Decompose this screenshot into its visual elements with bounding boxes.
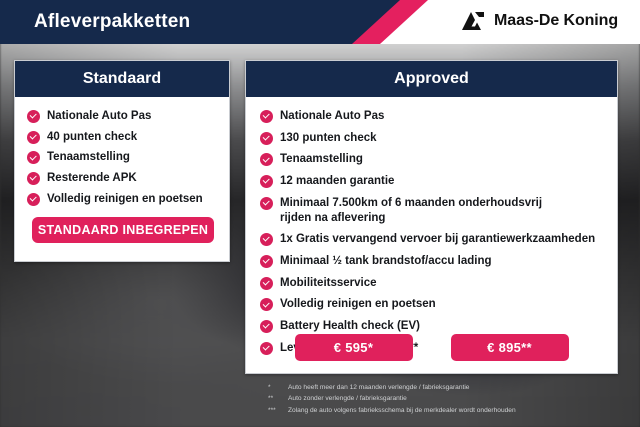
footnote-marker: *** bbox=[268, 405, 288, 416]
feature-label: 12 maanden garantie bbox=[280, 174, 394, 189]
list-item: Battery Health check (EV) bbox=[246, 319, 617, 334]
feature-label: 40 punten check bbox=[47, 130, 137, 145]
standard-package-card: Standaard Nationale Auto Pas 40 punten c… bbox=[14, 60, 230, 262]
check-circle-icon bbox=[260, 197, 273, 210]
list-item: 12 maanden garantie bbox=[246, 174, 617, 189]
standaard-inbegrepen-button[interactable]: STANDAARD INBEGREPEN bbox=[32, 217, 214, 243]
page-header: Afleverpakketten Maas-De Koning bbox=[0, 0, 640, 44]
check-circle-icon bbox=[260, 233, 273, 246]
feature-label: Volledig reinigen en poetsen bbox=[47, 192, 203, 207]
list-item: Nationale Auto Pas bbox=[246, 109, 617, 124]
maas-de-koning-m-mark-icon bbox=[460, 10, 486, 32]
approved-package-card: Approved Nationale Auto Pas 130 punten c… bbox=[245, 60, 618, 374]
check-circle-icon bbox=[260, 298, 273, 311]
price-button-595[interactable]: € 595* bbox=[295, 334, 413, 361]
check-circle-icon bbox=[260, 132, 273, 145]
footnote-text: Zolang de auto volgens fabrieksschema bi… bbox=[288, 405, 516, 416]
check-circle-icon bbox=[27, 172, 40, 185]
list-item: 130 punten check bbox=[246, 131, 617, 146]
feature-label: Nationale Auto Pas bbox=[47, 109, 151, 124]
list-item: Volledig reinigen en poetsen bbox=[246, 297, 617, 312]
page-title: Afleverpakketten bbox=[34, 11, 190, 33]
feature-label: Battery Health check (EV) bbox=[280, 319, 420, 334]
footnote-marker: ** bbox=[268, 393, 288, 404]
check-circle-icon bbox=[27, 151, 40, 164]
list-item: 40 punten check bbox=[15, 130, 229, 145]
list-item: 1x Gratis vervangend vervoer bij garanti… bbox=[246, 232, 617, 247]
feature-label: Tenaamstelling bbox=[47, 150, 130, 165]
list-item: Resterende APK bbox=[15, 171, 229, 186]
approved-card-title: Approved bbox=[246, 61, 617, 97]
feature-label: Volledig reinigen en poetsen bbox=[280, 297, 436, 312]
feature-label-continuation: rijden na aflevering bbox=[280, 211, 542, 226]
list-item: Minimaal 7.500km of 6 maanden onderhouds… bbox=[246, 196, 617, 225]
check-circle-icon bbox=[27, 131, 40, 144]
approved-feature-list: Nationale Auto Pas 130 punten check Tena… bbox=[246, 109, 617, 356]
check-circle-icon bbox=[260, 255, 273, 268]
feature-label: Resterende APK bbox=[47, 171, 137, 186]
check-circle-icon bbox=[260, 277, 273, 290]
approved-card-body: Nationale Auto Pas 130 punten check Tena… bbox=[246, 97, 617, 356]
feature-label: Mobiliteitsservice bbox=[280, 276, 377, 291]
standard-card-title: Standaard bbox=[15, 61, 229, 97]
feature-label: Tenaamstelling bbox=[280, 152, 363, 167]
list-item: Tenaamstelling bbox=[15, 150, 229, 165]
standard-feature-list: Nationale Auto Pas 40 punten check Tenaa… bbox=[15, 109, 229, 207]
list-item: Mobiliteitsservice bbox=[246, 276, 617, 291]
feature-label: 130 punten check bbox=[280, 131, 377, 146]
brand-name: Maas-De Koning bbox=[494, 12, 618, 30]
feature-label-wrapped: Minimaal 7.500km of 6 maanden onderhouds… bbox=[280, 196, 542, 225]
footnotes: * Auto heeft meer dan 12 maanden verleng… bbox=[268, 382, 516, 416]
feature-label: Minimaal ½ tank brandstof/accu lading bbox=[280, 254, 492, 269]
check-circle-icon bbox=[260, 175, 273, 188]
check-circle-icon bbox=[260, 110, 273, 123]
standard-card-body: Nationale Auto Pas 40 punten check Tenaa… bbox=[15, 97, 229, 207]
check-circle-icon bbox=[27, 110, 40, 123]
feature-label: Nationale Auto Pas bbox=[280, 109, 384, 124]
check-circle-icon bbox=[260, 153, 273, 166]
price-button-895[interactable]: € 895** bbox=[451, 334, 569, 361]
check-circle-icon bbox=[260, 320, 273, 333]
footnote-text: Auto heeft meer dan 12 maanden verlengde… bbox=[288, 382, 469, 393]
check-circle-icon bbox=[27, 193, 40, 206]
list-item: Minimaal ½ tank brandstof/accu lading bbox=[246, 254, 617, 269]
feature-label: Minimaal 7.500km of 6 maanden onderhouds… bbox=[280, 197, 542, 209]
list-item: Volledig reinigen en poetsen bbox=[15, 192, 229, 207]
footnote-3: *** Zolang de auto volgens fabrieksschem… bbox=[268, 405, 516, 416]
footnote-1: * Auto heeft meer dan 12 maanden verleng… bbox=[268, 382, 516, 393]
brand-lockup: Maas-De Koning bbox=[460, 10, 618, 32]
list-item: Tenaamstelling bbox=[246, 152, 617, 167]
footnote-marker: * bbox=[268, 382, 288, 393]
footnote-text: Auto zonder verlengde / fabrieksgarantie bbox=[288, 393, 407, 404]
price-button-row: € 595* € 895** bbox=[246, 334, 617, 361]
list-item: Nationale Auto Pas bbox=[15, 109, 229, 124]
feature-label: 1x Gratis vervangend vervoer bij garanti… bbox=[280, 232, 595, 247]
footnote-2: ** Auto zonder verlengde / fabrieksgaran… bbox=[268, 393, 516, 404]
